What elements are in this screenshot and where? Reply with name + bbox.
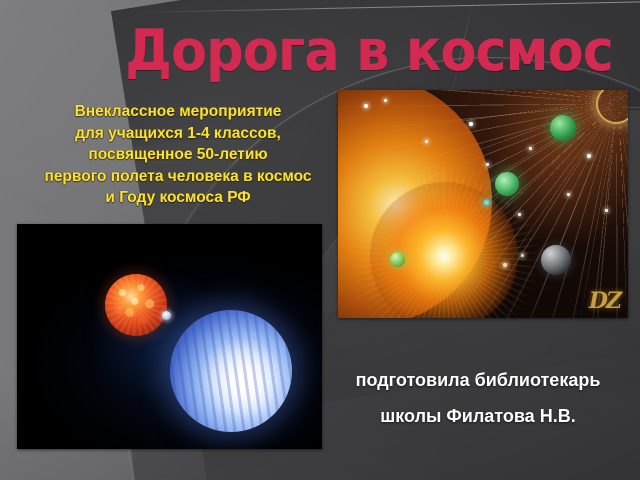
subtitle-line-1: Внеклассное мероприятие: [18, 101, 338, 123]
cosmos-star: [567, 193, 570, 196]
author-line-2: школы Филатова Н.В.: [322, 398, 634, 434]
author-credit: подготовила библиотекарь школы Филатова …: [322, 362, 634, 434]
small-moon: [162, 311, 171, 320]
cosmos-gray-planet: [541, 245, 571, 275]
cosmos-star: [364, 104, 368, 108]
subtitle-line-4: первого полета человека в космос: [18, 166, 338, 188]
red-planet: [105, 274, 167, 336]
blue-planet: [170, 310, 292, 432]
presentation-slide: Дорога в космос Внеклассное мероприятие …: [0, 0, 640, 480]
cosmos-star: [469, 122, 473, 126]
cosmos-green-planet-middle: [495, 172, 519, 196]
cosmos-star: [518, 213, 521, 216]
cosmos-star: [486, 163, 489, 166]
subtitle-line-2: для учащихся 1-4 классов,: [18, 123, 338, 145]
slide-title: Дорога в космос: [125, 22, 521, 80]
cosmic-explosion-image: DZ: [338, 90, 628, 318]
cosmos-artist-signature: DZ: [589, 288, 620, 314]
cosmos-star: [521, 254, 524, 257]
two-planets-image: [17, 224, 322, 449]
subtitle-line-5: и Году космоса РФ: [18, 187, 338, 209]
slide-subtitle: Внеклассное мероприятие для учащихся 1-4…: [18, 101, 338, 209]
cosmos-star: [605, 209, 608, 212]
cosmos-green-planet-lower: [390, 252, 405, 267]
author-line-1: подготовила библиотекарь: [322, 362, 634, 398]
blue-planet-texture: [170, 310, 292, 432]
subtitle-line-3: посвященное 50-летию: [18, 144, 338, 166]
red-planet-texture: [105, 274, 167, 336]
cosmos-explosion-core: [370, 182, 518, 318]
cosmos-green-planet-upper: [550, 115, 576, 141]
